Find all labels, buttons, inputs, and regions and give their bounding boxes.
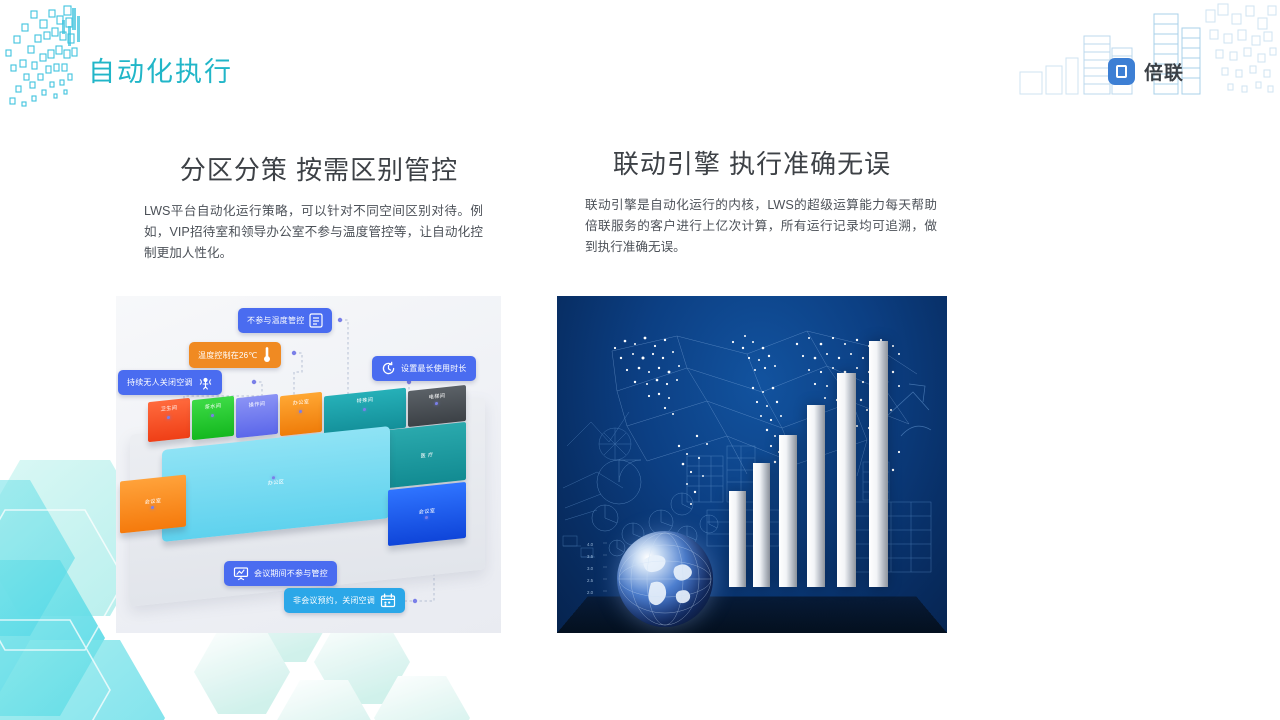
column-left-body: LWS平台自动化运行策略，可以针对不同空间区别对待。例如，VIP招待室和领导办公… [116, 201, 508, 264]
callout-badge[interactable]: 温度控制在26℃ [189, 342, 281, 368]
room-label: 电梯间 [429, 392, 446, 401]
room-label: 会议室 [145, 497, 162, 506]
page-header: 自动化执行 倍联 [0, 0, 1280, 120]
room-dot-icon [363, 408, 366, 411]
callout-label: 会议期间不参与管控 [254, 568, 328, 579]
svg-text:4.0: 4.0 [587, 542, 594, 547]
room-dot-icon [435, 402, 438, 405]
chart-bar [837, 373, 856, 587]
room-block: 医 疗 [388, 422, 466, 488]
world-map-network-icon: 4.03.53.0 2.52.01.5 [557, 296, 947, 633]
room-block: 电梯间 [408, 385, 466, 427]
chart-bar [869, 341, 888, 587]
room-label: 医 疗 [420, 451, 433, 459]
motion-sensor-icon [198, 375, 213, 390]
callout-badge[interactable]: 会议期间不参与管控 [224, 561, 337, 586]
globe-3d-icon [617, 531, 713, 627]
room-block: 茶水间 [192, 396, 234, 440]
svg-text:2.5: 2.5 [587, 578, 594, 583]
room-block: 卫生间 [148, 398, 190, 442]
room-dot-icon [299, 410, 302, 413]
calendar-icon [380, 593, 396, 608]
room-label: 卫生间 [161, 404, 178, 413]
callout-label: 持续无人关闭空调 [127, 377, 193, 388]
room-label: 会议室 [419, 507, 436, 516]
document-list-icon [309, 313, 323, 328]
room-label: 办公区 [268, 478, 285, 487]
svg-text:2.0: 2.0 [587, 590, 594, 595]
callout-label: 非会议预约，关闭空调 [293, 595, 375, 606]
chart-bar [753, 463, 770, 587]
room-dot-icon [167, 416, 170, 419]
chart-bar [807, 405, 825, 587]
room-dot-icon [151, 506, 154, 509]
callout-badge[interactable]: 设置最长使用时长 [372, 356, 476, 381]
data-visualization-image: 4.03.53.0 2.52.01.5 [557, 296, 947, 633]
column-right-body: 联动引擎是自动化运行的内核，LWS的超级运算能力每天帮助倍联服务的客户进行上亿次… [557, 195, 947, 258]
room-block: 操作间 [236, 394, 278, 438]
column-right: 联动引擎 执行准确无误 联动引擎是自动化运行的内核，LWS的超级运算能力每天帮助… [557, 150, 947, 258]
room-label: 特殊间 [357, 396, 374, 405]
room-label: 操作间 [249, 400, 266, 409]
callout-label: 不参与温度管控 [247, 315, 304, 326]
svg-text:3.5: 3.5 [587, 554, 594, 559]
brand-logo: 倍联 [1108, 58, 1184, 85]
brand-name: 倍联 [1144, 58, 1184, 85]
callout-badge[interactable]: 持续无人关闭空调 [118, 370, 222, 395]
page-title: 自动化执行 [88, 50, 233, 89]
timer-icon [381, 361, 396, 376]
svg-text:3.0: 3.0 [587, 566, 594, 571]
room-dot-icon [425, 516, 428, 519]
room-block: 办公室 [280, 392, 322, 436]
room-block: 会议室 [388, 482, 466, 546]
room-dot-icon [211, 414, 214, 417]
callout-badge[interactable]: 非会议预约，关闭空调 [284, 588, 405, 613]
callout-label: 设置最长使用时长 [401, 363, 467, 374]
chart-bar [779, 435, 797, 587]
presentation-icon [233, 566, 249, 581]
column-left: 分区分策 按需区别管控 LWS平台自动化运行策略，可以针对不同空间区别对待。例如… [116, 150, 508, 264]
callout-label: 温度控制在26℃ [198, 350, 257, 361]
room-label: 茶水间 [205, 402, 222, 411]
column-left-heading: 分区分策 按需区别管控 [130, 150, 508, 187]
chart-bar [729, 491, 746, 587]
callout-badge[interactable]: 不参与温度管控 [238, 308, 332, 333]
thermometer-icon [262, 347, 272, 363]
floorplan-illustration: 卫生间 茶水间 操作间 办公室 特殊间 电梯间 [116, 296, 501, 633]
ground-plane [557, 597, 947, 633]
column-right-heading: 联动引擎 执行准确无误 [557, 144, 947, 181]
rounded-square-logo-icon [1108, 58, 1135, 85]
room-label: 办公室 [293, 398, 310, 407]
room-block: 会议室 [120, 475, 186, 534]
